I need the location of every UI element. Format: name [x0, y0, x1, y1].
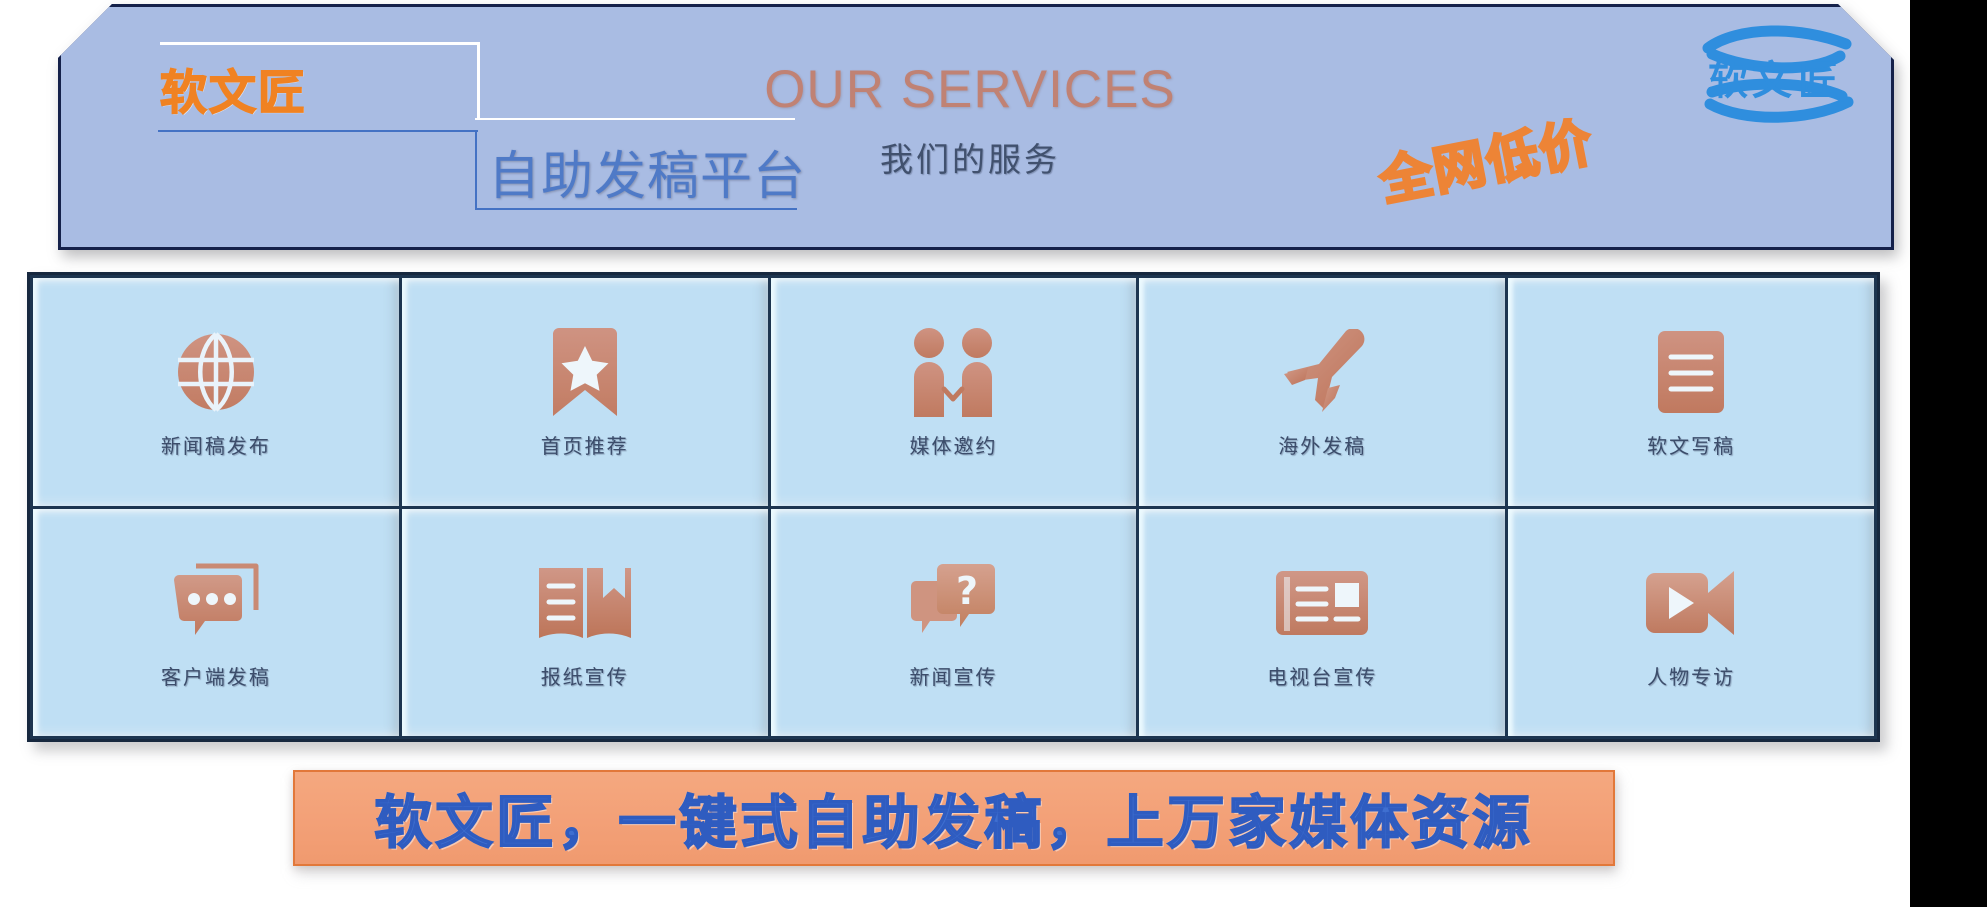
service-card-label: 电视台宣传 [1267, 661, 1377, 690]
slogan-text: 软文匠，一键式自助发稿，上万家媒体资源 [375, 777, 1534, 859]
svg-text:?: ? [956, 569, 978, 613]
bookmark-star-icon [535, 324, 635, 420]
globe-icon [166, 324, 266, 420]
brand-rule-top [160, 42, 480, 45]
service-card-news-promotion[interactable]: ? 新闻宣传 [771, 509, 1137, 737]
service-card-media-invitation[interactable]: 媒体邀约 [771, 278, 1137, 506]
brand-name: 软文匠 [160, 54, 307, 123]
service-card-label: 新闻稿发布 [161, 430, 271, 459]
airplane-icon [1272, 324, 1372, 420]
service-card-homepage-feature[interactable]: 首页推荐 [402, 278, 768, 506]
page-title-block: OUR SERVICES 我们的服务 [690, 60, 1250, 181]
service-card-label: 人物专访 [1647, 661, 1735, 690]
service-card-label: 客户端发稿 [161, 661, 271, 690]
svg-text:匠: 匠 [1798, 58, 1838, 104]
document-lines-icon [1641, 324, 1741, 420]
bottom-banner: 软文匠，一键式自助发稿，上万家媒体资源 [293, 770, 1615, 866]
page-title-chinese: 我们的服务 [690, 133, 1250, 181]
slide-canvas: 软文匠 自助发稿平台 OUR SERVICES 我们的服务 全网低价 软 文 匠 [0, 0, 1910, 907]
brand-rule-lower-vertical [475, 130, 477, 210]
service-card-label: 报纸宣传 [541, 661, 629, 690]
service-card-news-release[interactable]: 新闻稿发布 [33, 278, 399, 506]
service-card-label: 媒体邀约 [909, 430, 997, 459]
service-card-label: 首页推荐 [541, 430, 629, 459]
chat-bubbles-question-icon: ? [903, 555, 1003, 651]
page-title-english: OUR SERVICES [690, 60, 1250, 121]
svg-text:软: 软 [1708, 58, 1748, 104]
service-card-label: 海外发稿 [1278, 430, 1366, 459]
service-card-app-release[interactable]: 客户端发稿 [33, 509, 399, 737]
brand-logo-icon: 软 文 匠 [1690, 18, 1865, 130]
chat-bubble-dots-icon [166, 555, 266, 651]
service-card-label: 软文写稿 [1647, 430, 1735, 459]
service-card-copywriting[interactable]: 软文写稿 [1508, 278, 1874, 506]
service-card-personal-interview[interactable]: 人物专访 [1508, 509, 1874, 737]
service-card-tv-promotion[interactable]: 电视台宣传 [1139, 509, 1505, 737]
service-card-newspaper-promotion[interactable]: 报纸宣传 [402, 509, 768, 737]
open-book-icon [535, 555, 635, 651]
handshake-people-icon [903, 324, 1003, 420]
right-black-bar [1910, 0, 1987, 907]
service-card-overseas-release[interactable]: 海外发稿 [1139, 278, 1505, 506]
video-camera-icon [1641, 555, 1741, 651]
newspaper-icon [1272, 555, 1372, 651]
svg-text:文: 文 [1752, 58, 1792, 104]
brand-rule-lower [158, 130, 478, 132]
service-card-label: 新闻宣传 [909, 661, 997, 690]
brand-rule-top-vertical [477, 42, 480, 120]
services-grid: 新闻稿发布 首页推荐 [27, 272, 1880, 742]
brand-lockup: 软文匠 自助发稿平台 [150, 42, 650, 212]
